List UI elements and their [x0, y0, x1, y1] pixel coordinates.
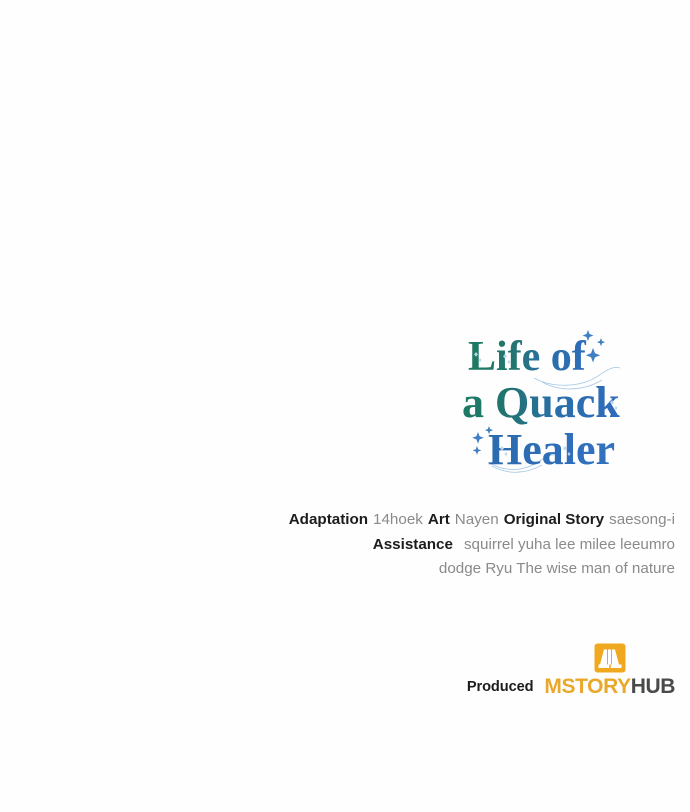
credit-value-original-story: saesong-i [609, 511, 675, 528]
sparkle-icon [583, 330, 606, 362]
title-line-2: a Quack [462, 378, 620, 427]
credit-line-3: dodge Ryu The wise man of nature [240, 557, 675, 581]
title-line-3: Healer [488, 425, 615, 474]
brand-name-primary: MSTORY [544, 675, 630, 698]
produced-label: Produced [467, 679, 534, 695]
title-line-1: Life of [468, 334, 587, 380]
comic-credits-page: Life of a Quack Healer Adaptation [0, 0, 690, 812]
credit-label-assistance: Assistance [373, 536, 453, 553]
credit-label-art: Art [428, 511, 450, 528]
mstoryhub-wordmark: MSTORYHUB [544, 676, 675, 697]
brand-name-secondary: HUB [631, 675, 675, 698]
title-artwork-svg: Life of a Quack Healer [462, 322, 682, 482]
series-title-logo: Life of a Quack Healer [462, 322, 682, 482]
credit-line-1: Adaptation14hoekArtNayenOriginal Storysa… [240, 508, 675, 532]
credit-label-adaptation: Adaptation [289, 511, 368, 528]
credit-label-original-story: Original Story [504, 511, 604, 528]
credit-value-assistance: squirrel yuha lee milee leeumro [464, 536, 675, 553]
credit-line-2: Assistancesquirrel yuha lee milee leeumr… [240, 533, 675, 557]
credit-value-assistance-cont: dodge Ryu The wise man of nature [439, 560, 675, 577]
producer-row: Produced MSTORYHUB [240, 676, 675, 697]
credits-block: Adaptation14hoekArtNayenOriginal Storysa… [240, 508, 675, 581]
credit-value-adaptation: 14hoek [373, 511, 423, 528]
mstoryhub-logo: MSTORYHUB [544, 676, 675, 697]
mstoryhub-book-icon [594, 643, 626, 673]
credit-value-art: Nayen [455, 511, 499, 528]
